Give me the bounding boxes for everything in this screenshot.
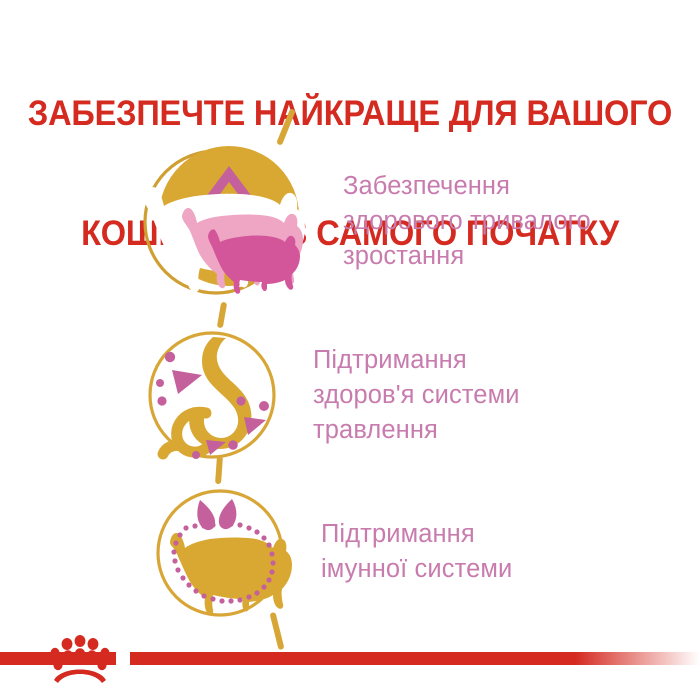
page-title-line-1: ЗАБЕЗПЕЧТЕ НАЙКРАЩЕ ДЛЯ ВАШОГО [25,94,676,134]
benefit-row-growth: Забезпечення здорового тривалого зростан… [130,130,591,310]
digestive-system-icon [140,325,285,465]
brand-bar-right [130,652,700,665]
growing-kittens-icon [130,130,315,310]
benefit-label-growth: Забезпечення здорового тривалого зростан… [343,169,591,274]
infographic-canvas: ЗАБЕЗПЕЧТЕ НАЙКРАЩЕ ДЛЯ ВАШОГО КОШЕНЯТИ … [0,0,700,700]
immune-system-cat-icon [148,480,293,620]
benefit-label-immune: Підтримання імунної системи [321,517,512,587]
royal-canin-crown-icon [47,632,113,688]
benefit-row-digestive: Підтримання здоров'я системи травлення [140,325,520,465]
benefit-row-immune: Підтримання імунної системи [148,480,512,620]
benefit-label-digestive: Підтримання здоров'я системи травлення [313,343,520,448]
footer-brand-band [0,630,700,700]
